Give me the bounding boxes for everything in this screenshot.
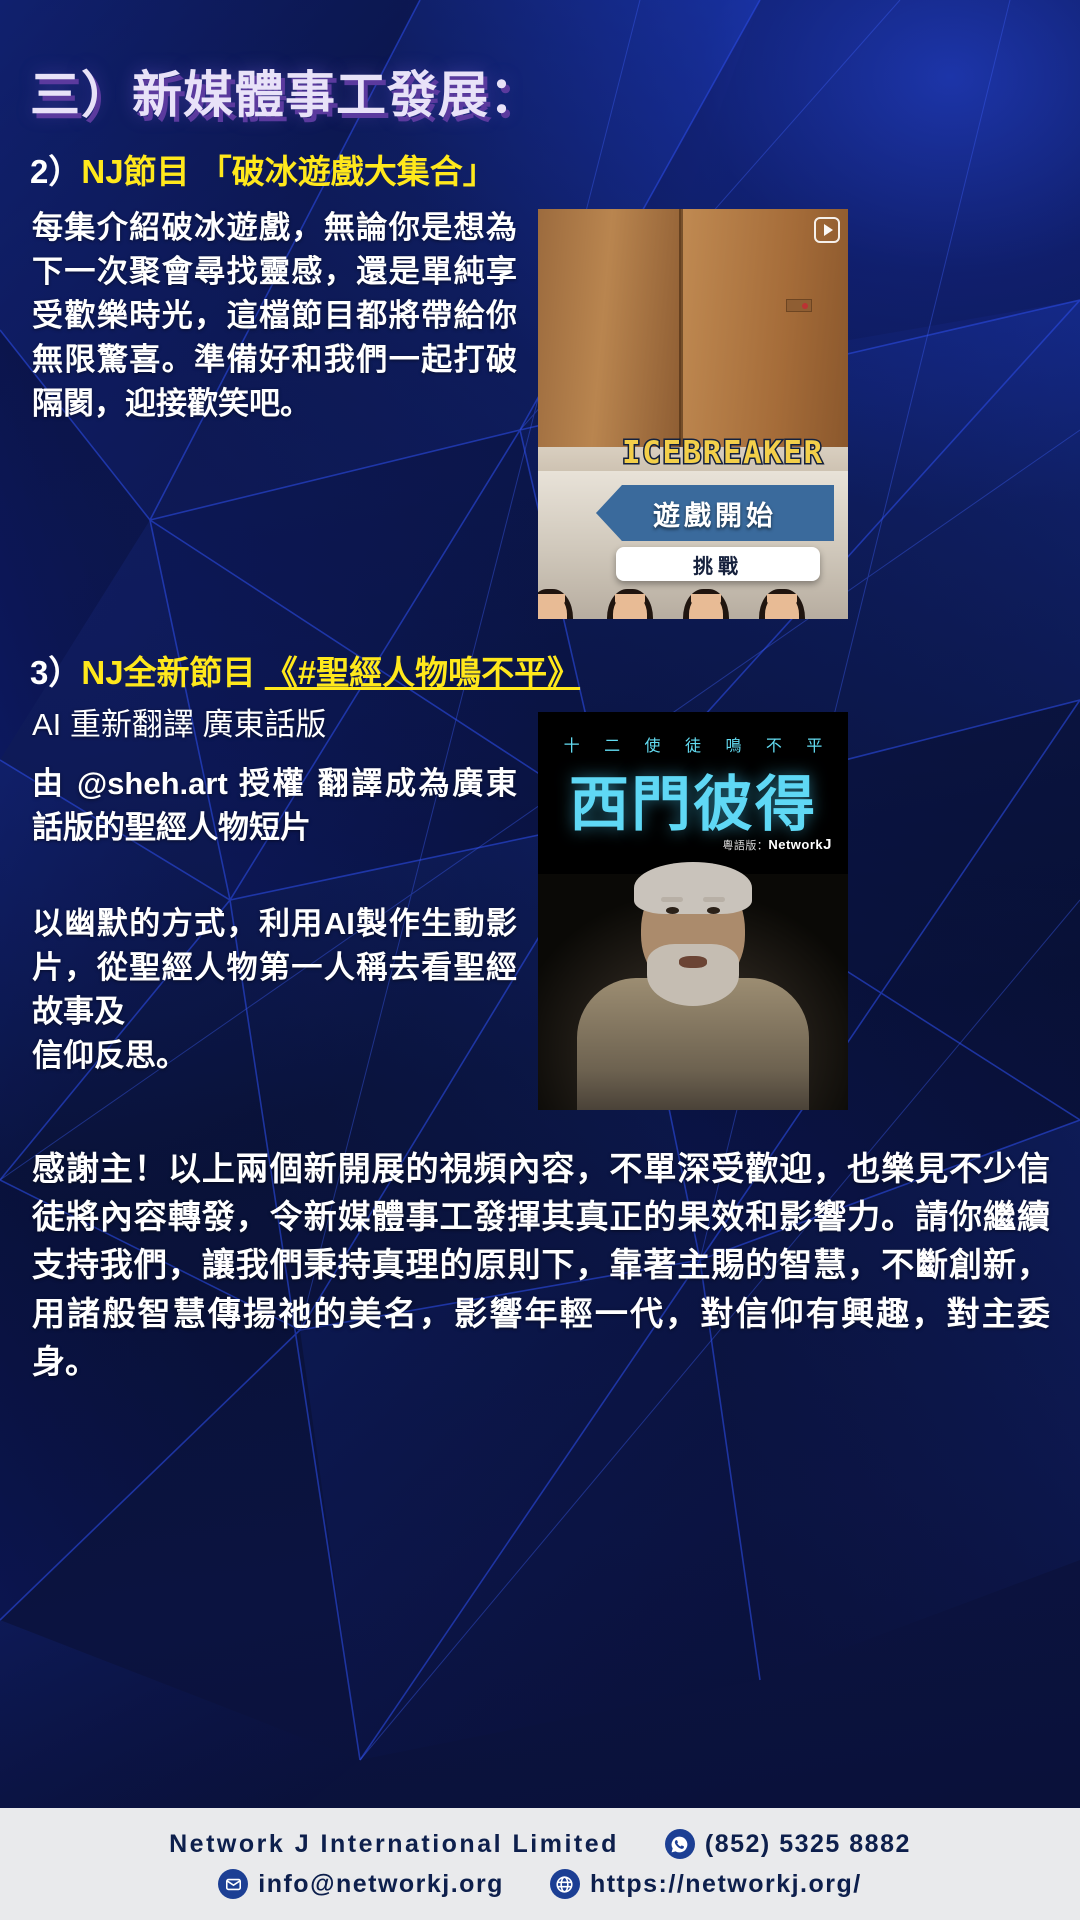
envelope-icon xyxy=(218,1869,248,1899)
brand-name: Network xyxy=(768,837,823,852)
footer-email[interactable]: info@networkj.org xyxy=(218,1869,504,1899)
section-3-heading: 3）NJ全新節目 《#聖經人物鳴不平》 xyxy=(30,655,580,691)
footer-phone[interactable]: (852) 5325 8882 xyxy=(665,1829,911,1859)
footer-company: Network J International Limited xyxy=(169,1830,619,1859)
email-address: info@networkj.org xyxy=(258,1870,504,1899)
globe-icon xyxy=(550,1869,580,1899)
challenge-label: 挑戰 xyxy=(693,550,743,579)
network-j-brand: 粵語版：NetworkJ xyxy=(722,836,832,853)
game-start-label: 遊戲開始 xyxy=(653,494,777,533)
page-title: 三）新媒體事工發展： xyxy=(30,55,540,127)
section-2-heading: 2）NJ節目 「破冰遊戲大集合」 xyxy=(30,154,496,190)
footer-website[interactable]: https://networkj.org/ xyxy=(550,1869,862,1899)
section-3-title-hashtag: 《#聖經人物鳴不平》 xyxy=(265,654,580,691)
twelve-apostles-eyebrow: 十 二 使 徒 鳴 不 平 xyxy=(538,732,848,756)
section-3-title: NJ全新節目 xyxy=(81,654,264,691)
phone-number: (852) 5325 8882 xyxy=(705,1830,911,1859)
section-3-number: 3） xyxy=(30,654,81,691)
simon-peter-title: 西門彼得 xyxy=(538,756,848,843)
icebreaker-video-thumbnail[interactable]: ICEBREAKER 遊戲開始 挑戰 xyxy=(538,209,848,619)
wall-seam xyxy=(679,209,683,471)
section-2-title: NJ節目 「破冰遊戲大集合」 xyxy=(81,153,495,190)
wall-socket-icon xyxy=(786,299,812,312)
website-url: https://networkj.org/ xyxy=(590,1870,862,1899)
whatsapp-icon xyxy=(665,1829,695,1859)
simon-peter-video-thumbnail[interactable]: 十 二 使 徒 鳴 不 平 西門彼得 粵語版：NetworkJ xyxy=(538,712,848,1110)
footer-contact-bar: Network J International Limited (852) 53… xyxy=(0,1808,1080,1920)
footer-row-1: Network J International Limited (852) 53… xyxy=(169,1829,911,1859)
company-name: Network J International Limited xyxy=(169,1830,619,1859)
wall-panel-left xyxy=(538,209,681,471)
section-3-paragraph-1: 由 @sheh.art 授權 翻譯成為廣東話版的聖經人物短片 xyxy=(32,762,517,850)
apostle-portrait xyxy=(538,874,848,1110)
wall-panel-right xyxy=(681,209,848,471)
brand-letter: J xyxy=(823,836,832,853)
closing-paragraph: 感謝主！以上兩個新開展的視頻內容，不單深受歡迎，也樂見不少信徒將內容轉發，令新媒… xyxy=(32,1145,1050,1386)
section-3-paragraph-2: 以幽默的方式，利用AI製作生動影片，從聖經人物第一人稱去看聖經故事及 信仰反思。 xyxy=(32,902,517,1078)
section-3-subtitle: AI 重新翻譯 廣東話版 xyxy=(32,703,532,747)
section-2-number: 2） xyxy=(30,153,81,190)
footer-row-2: info@networkj.org https://networkj.org/ xyxy=(218,1869,861,1899)
brand-prefix: 粵語版： xyxy=(722,840,768,852)
play-icon[interactable] xyxy=(814,217,840,243)
section-2-body: 每集介紹破冰遊戲，無論你是想為下一次聚會尋找靈感，還是單純享受歡樂時光，這檔節目… xyxy=(32,206,517,426)
challenge-pill: 挑戰 xyxy=(616,547,820,581)
game-start-banner: 遊戲開始 xyxy=(596,485,834,541)
poster-content: 三）新媒體事工發展： 2）NJ節目 「破冰遊戲大集合」 每集介紹破冰遊戲，無論你… xyxy=(0,0,1080,1920)
icebreaker-badge: ICEBREAKER xyxy=(622,435,824,471)
